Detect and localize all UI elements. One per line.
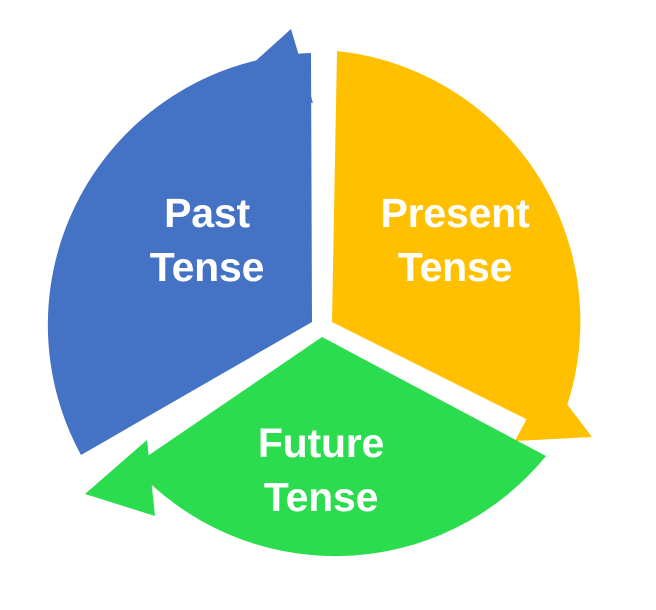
cycle-diagram-svg (0, 0, 656, 610)
segment-future-arrowhead-icon (85, 440, 155, 516)
tenses-cycle-diagram: Past Tense Present Tense Future Tense (0, 0, 656, 610)
